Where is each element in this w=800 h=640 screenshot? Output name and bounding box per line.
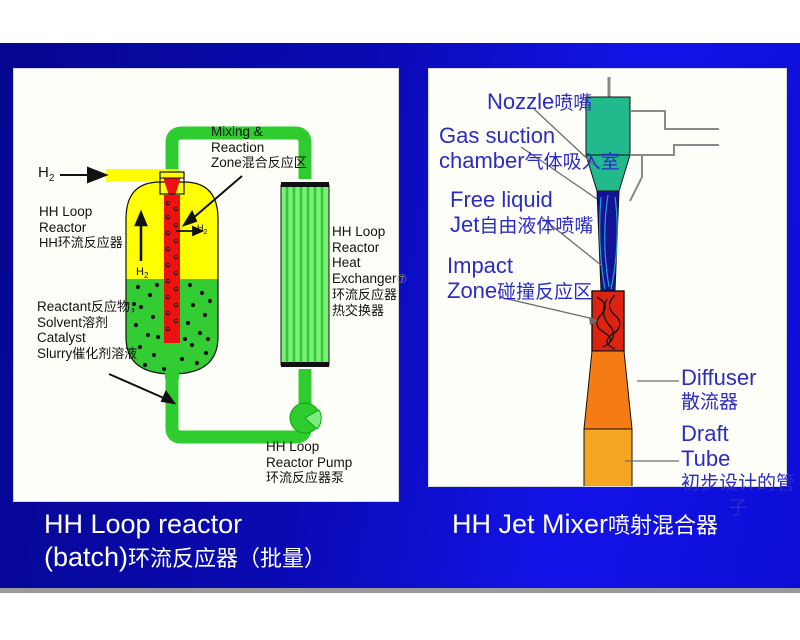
label-heat-exchanger: HH Loop Reactor Heat Exchanger⑦ 环流反应器 热交… xyxy=(332,224,407,318)
diffuser xyxy=(584,351,632,429)
label-vessel-h2-upper: H2 xyxy=(197,221,207,240)
free-liquid-jet xyxy=(597,191,619,291)
loop-pump xyxy=(290,403,321,433)
label-nozzle: Nozzle喷嘴 xyxy=(487,89,592,116)
label-h2-inlet: H2 xyxy=(38,165,54,187)
slide-canvas: H2 Mixing & Reaction Zone混合反应区 HH Loop R… xyxy=(0,43,800,593)
label-free-liquid-jet: Free liquid Jet自由液体喷嘴 xyxy=(450,187,593,239)
label-vessel-h2-lower: H2 xyxy=(136,265,148,284)
label-diffuser: Diffuser 散流器 xyxy=(681,365,756,415)
draft-tube xyxy=(584,429,632,486)
right-diagram-panel: Nozzle喷嘴 Gas suction chamber气体吸入室 Free l… xyxy=(428,68,787,487)
caption-left: HH Loop reactor (batch)环流反应器（批量） xyxy=(44,508,326,575)
label-reactant-slurry: Reactant反应物， Solvent溶剂 Catalyst Slurry催化… xyxy=(37,299,143,361)
label-loop-pump: HH Loop Reactor Pump 环流反应器泵 xyxy=(266,439,352,486)
heat-exchanger xyxy=(281,182,329,367)
label-draft-tube: Draft Tube 初步设计的管 子 xyxy=(681,421,795,521)
caption-right: HH Jet Mixer喷射混合器 xyxy=(452,508,718,542)
label-gas-suction-chamber: Gas suction chamber气体吸入室 xyxy=(439,123,620,175)
label-hh-loop-reactor: HH Loop Reactor HH环流反应器 xyxy=(39,204,123,251)
h2-inlet-arrow xyxy=(60,168,106,182)
left-diagram-panel: H2 Mixing & Reaction Zone混合反应区 HH Loop R… xyxy=(13,68,399,502)
gas-suction-chamber xyxy=(630,111,719,201)
label-impact-zone: Impact Zone碰撞反应区 xyxy=(447,253,592,305)
label-mixing-reaction-zone: Mixing & Reaction Zone混合反应区 xyxy=(211,124,307,171)
